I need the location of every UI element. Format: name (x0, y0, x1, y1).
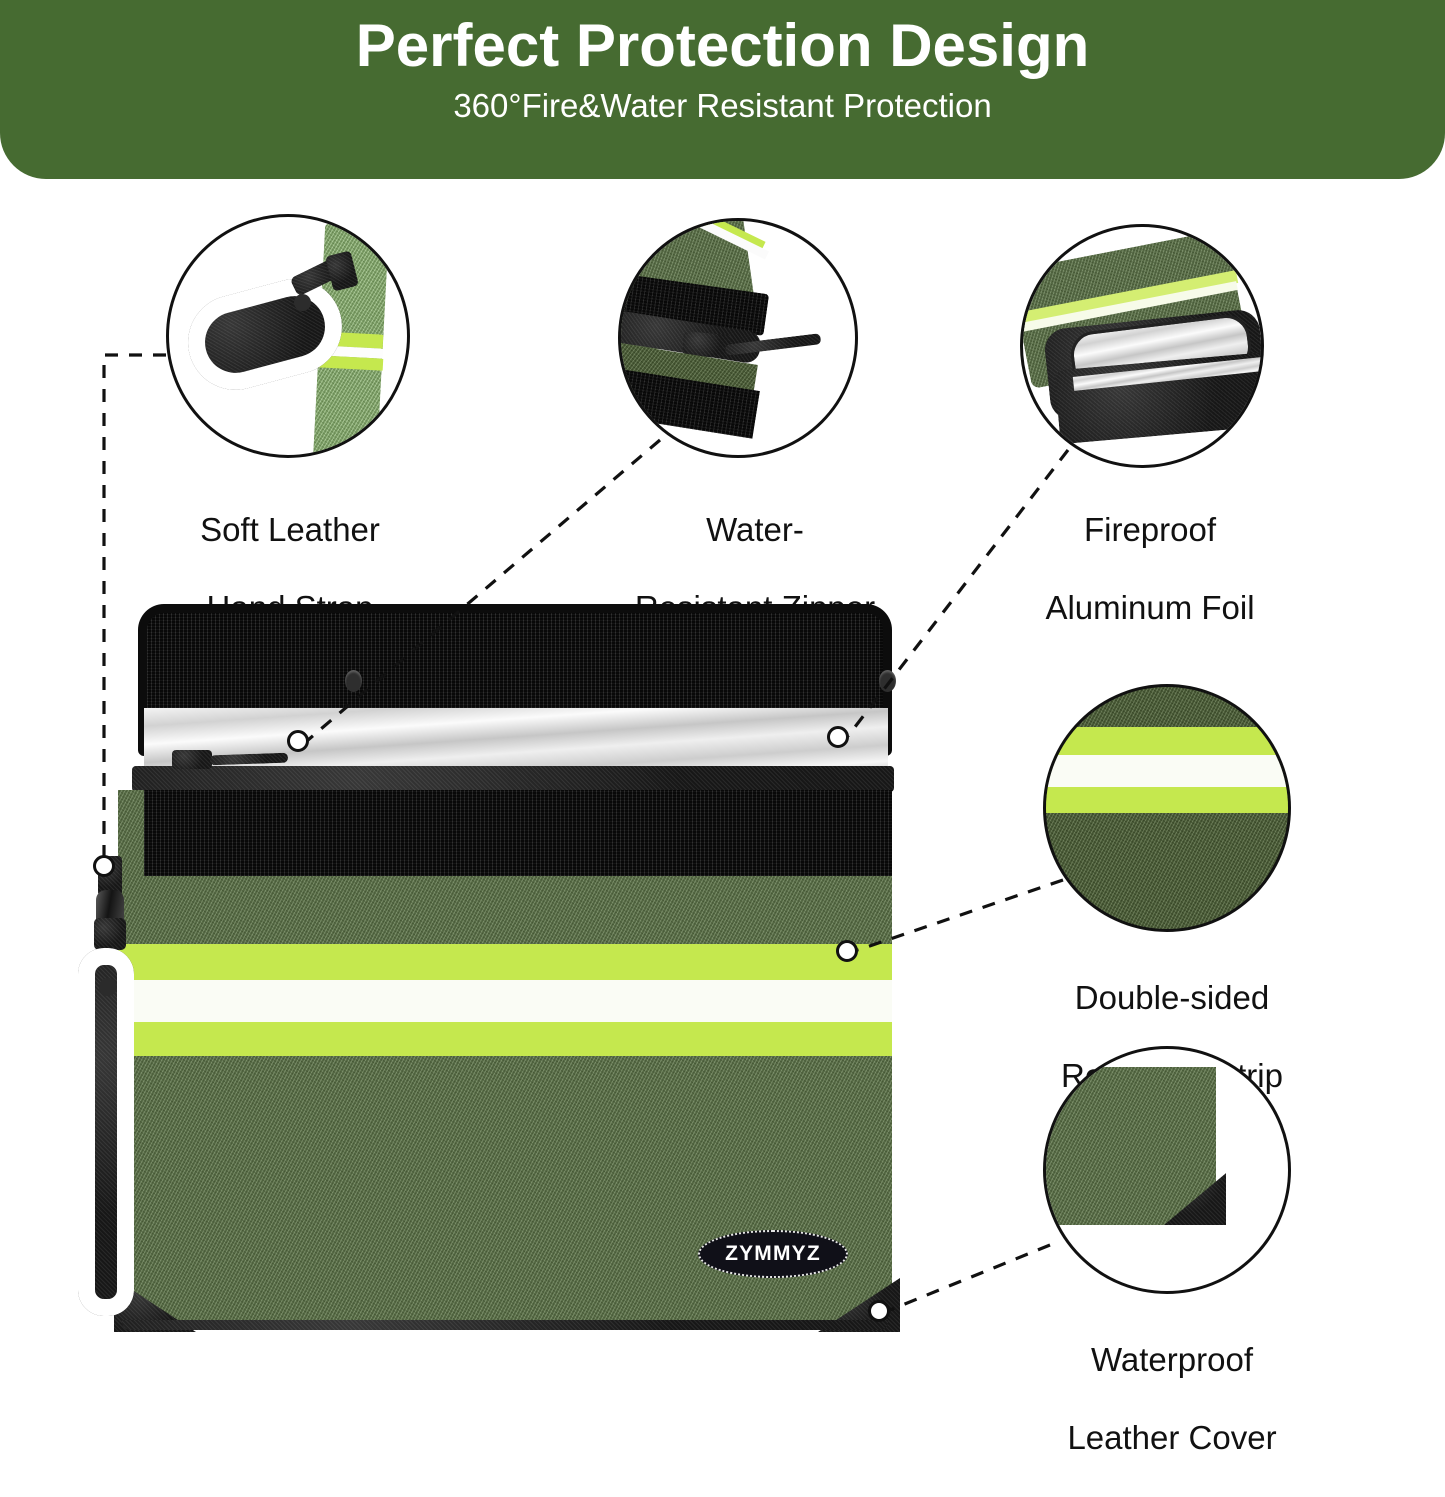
main-zipper-slider (172, 750, 212, 769)
bag-reflective-lime-upper (118, 944, 892, 980)
header-banner: Perfect Protection Design 360°Fire&Water… (0, 0, 1445, 179)
callout-waterproof-leather-cover[interactable] (1043, 1046, 1291, 1294)
caption-line-2: Aluminum Foil (1000, 589, 1300, 628)
flap-snap-button-right (879, 670, 896, 692)
bag-bottom-edge (122, 1320, 888, 1330)
marker-hand-strap (93, 855, 115, 877)
product-bag[interactable]: ZYMMYZ (118, 604, 892, 1328)
caption-waterproof-leather-cover: Waterproof Leather Cover (1022, 1302, 1322, 1497)
page-title: Perfect Protection Design (356, 14, 1090, 79)
marker-zipper (287, 730, 309, 752)
reflective-lime-upper (1046, 727, 1291, 755)
marker-reflective-strip (836, 940, 858, 962)
callout-double-sided-reflective-strip[interactable] (1043, 684, 1291, 932)
caption-line-1: Double-sided (1022, 979, 1322, 1018)
main-zipper-tape (132, 766, 894, 792)
brand-name: ZYMMYZ (725, 1242, 821, 1266)
callout-water-resistant-zipper[interactable] (618, 218, 858, 458)
marker-leather-cover (868, 1300, 890, 1322)
strap-snap-button (99, 978, 117, 996)
callout-soft-leather-hand-strap[interactable] (166, 214, 410, 458)
strap-clip-body (94, 918, 126, 950)
callout-fireproof-aluminum-foil[interactable] (1020, 224, 1264, 468)
bag-reflective-white-center (118, 980, 892, 1022)
page-subtitle: 360°Fire&Water Resistant Protection (453, 88, 991, 124)
reflective-lime-lower (1046, 787, 1291, 813)
flap-snap-button-left (345, 670, 362, 692)
bag-velcro-band-front (144, 790, 892, 876)
caption-line-1: Soft Leather (140, 511, 440, 550)
caption-fireproof-aluminum-foil: Fireproof Aluminum Foil (1000, 472, 1300, 667)
brand-logo-badge: ZYMMYZ (698, 1230, 848, 1278)
caption-line-1: Water- (590, 511, 920, 550)
marker-aluminum-foil (827, 726, 849, 748)
caption-line-1: Fireproof (1000, 511, 1300, 550)
strap-loop (78, 948, 134, 1316)
caption-line-1: Waterproof (1022, 1341, 1322, 1380)
caption-line-2: Leather Cover (1022, 1419, 1322, 1458)
bag-reflective-lime-lower (118, 1022, 892, 1056)
cover-fabric-photo (1043, 1067, 1216, 1225)
wrist-strap[interactable] (74, 856, 144, 1326)
reflective-white-center (1046, 755, 1291, 787)
